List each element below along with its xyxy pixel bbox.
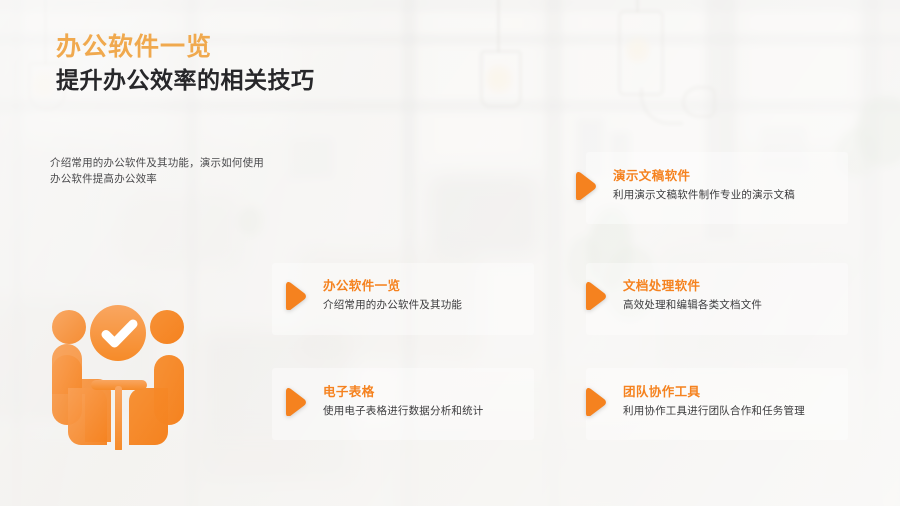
list-item-text: 演示文稿软件 利用演示文稿软件制作专业的演示文稿 — [613, 168, 795, 203]
list-item-text: 电子表格 使用电子表格进行数据分析和统计 — [323, 384, 484, 419]
arrow-right-icon — [282, 387, 309, 416]
presentation-slide: 办公软件一览 提升办公效率的相关技巧 介绍常用的办公软件及其功能，演示如何使用办… — [0, 0, 900, 506]
list-item-title: 演示文稿软件 — [613, 168, 795, 185]
list-item-desc: 利用协作工具进行团队合作和任务管理 — [623, 404, 805, 419]
list-item-text: 文档处理软件 高效处理和编辑各类文档文件 — [623, 278, 762, 313]
arrow-right-icon — [572, 171, 599, 200]
list-item-desc: 使用电子表格进行数据分析和统计 — [323, 404, 484, 419]
arrow-right-icon — [582, 387, 609, 416]
list-item[interactable]: 办公软件一览 介绍常用的办公软件及其功能 — [282, 278, 462, 313]
lead-description: 介绍常用的办公软件及其功能，演示如何使用办公软件提高办公效率 — [50, 155, 265, 188]
teamwork-checkmark-icon — [38, 300, 198, 450]
arrow-right-icon — [582, 281, 609, 310]
list-item[interactable]: 团队协作工具 利用协作工具进行团队合作和任务管理 — [582, 384, 805, 419]
list-item-title: 文档处理软件 — [623, 278, 762, 295]
list-item-text: 办公软件一览 介绍常用的办公软件及其功能 — [323, 278, 462, 313]
list-item-title: 团队协作工具 — [623, 384, 805, 401]
list-item-desc: 介绍常用的办公软件及其功能 — [323, 298, 462, 313]
list-item-desc: 利用演示文稿软件制作专业的演示文稿 — [613, 188, 795, 203]
list-item-title: 电子表格 — [323, 384, 484, 401]
list-item-text: 团队协作工具 利用协作工具进行团队合作和任务管理 — [623, 384, 805, 419]
page-title: 办公软件一览 — [56, 34, 315, 62]
slide-header: 办公软件一览 提升办公效率的相关技巧 — [56, 34, 315, 93]
list-item-desc: 高效处理和编辑各类文档文件 — [623, 298, 762, 313]
page-subtitle: 提升办公效率的相关技巧 — [56, 67, 315, 93]
list-item[interactable]: 演示文稿软件 利用演示文稿软件制作专业的演示文稿 — [572, 168, 795, 203]
arrow-right-icon — [282, 281, 309, 310]
list-item[interactable]: 电子表格 使用电子表格进行数据分析和统计 — [282, 384, 484, 419]
list-item-title: 办公软件一览 — [323, 278, 462, 295]
list-item[interactable]: 文档处理软件 高效处理和编辑各类文档文件 — [582, 278, 762, 313]
